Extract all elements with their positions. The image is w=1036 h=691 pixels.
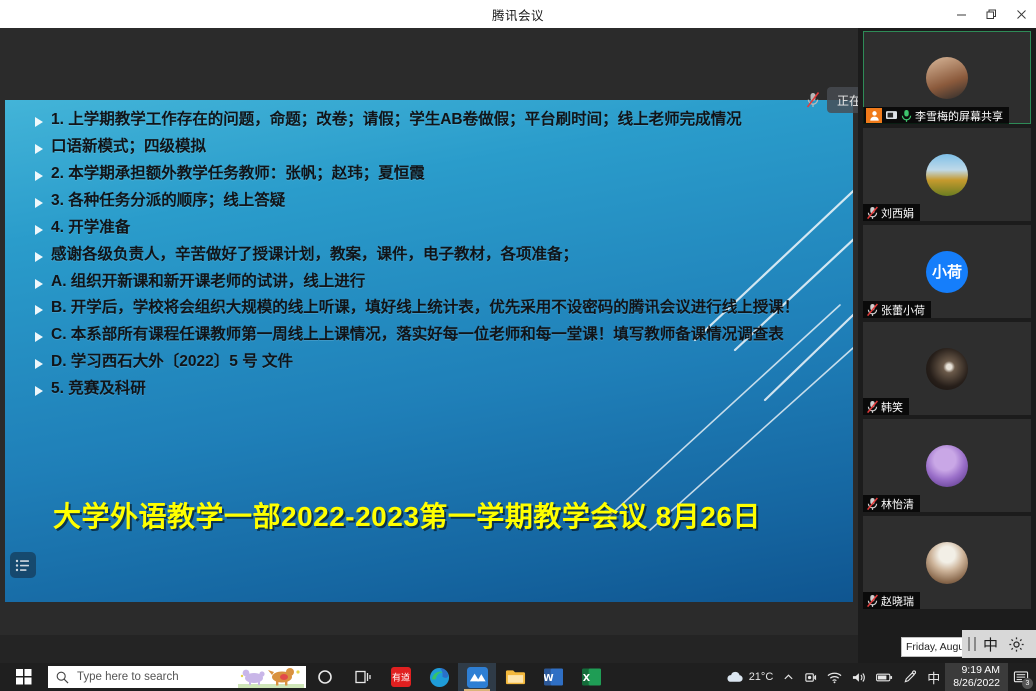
chevron-up-icon[interactable] <box>778 663 799 691</box>
search-input[interactable]: Type here to search <box>48 666 306 688</box>
triangle-bullet-icon <box>35 252 43 262</box>
list-item: 口语新模式；四级模拟 <box>27 137 839 158</box>
list-item: C. 本系部所有课程任课教师第一周线上上课情况，落实好每一位老师和每一堂课！填写… <box>27 325 839 346</box>
participant-name: 李雪梅的屏幕共享 <box>915 108 1003 124</box>
participant-tile[interactable]: 李雪梅的屏幕共享 <box>863 31 1031 124</box>
slide-title: 大学外语教学一部2022-2023第一学期教学会议 8月26日 <box>53 495 761 535</box>
speaking-label-box: 正在讲话: 李雪梅; <box>827 87 858 113</box>
wifi-icon[interactable] <box>822 663 847 691</box>
triangle-bullet-icon <box>35 225 43 235</box>
system-tray[interactable]: 21°C <box>720 663 1036 691</box>
mic-muted-icon <box>866 497 879 511</box>
notification-count-badge: 3 <box>1022 678 1033 689</box>
triangle-bullet-icon <box>35 305 43 315</box>
minimize-icon <box>956 9 967 20</box>
triangle-bullet-icon <box>35 144 43 154</box>
taskbar-clock[interactable]: 9:19 AM 8/26/2022 <box>945 663 1008 691</box>
presentation-menu-button[interactable] <box>10 552 36 578</box>
participant-tile[interactable]: 林怡清 <box>863 419 1031 512</box>
bullet-text: 感谢各级负责人，辛苦做好了授课计划，教案，课件，电子教材，各项准备； <box>51 245 578 266</box>
restore-icon <box>986 9 997 20</box>
clock-date: 8/26/2022 <box>953 677 1000 690</box>
youdao-dictionary-icon[interactable]: 有道 <box>382 663 420 691</box>
window-controls <box>946 0 1036 28</box>
mic-muted-icon <box>866 594 879 608</box>
search-icon <box>56 671 69 684</box>
triangle-bullet-icon <box>35 332 43 342</box>
mic-muted-icon <box>866 206 879 220</box>
participant-nametag: 林怡清 <box>863 495 920 512</box>
triangle-bullet-icon <box>35 386 43 396</box>
tencent-meeting-icon[interactable] <box>458 663 496 691</box>
list-item: B. 开学后，学校将会组织大规模的线上听课，填好线上统计表，优先采用不设密码的腾… <box>27 298 839 319</box>
drag-handle-icon[interactable] <box>968 637 976 651</box>
participants-rail[interactable]: 李雪梅的屏幕共享 刘西娟 小荷 <box>858 28 1036 663</box>
window-title: 腾讯会议 <box>492 5 544 24</box>
list-item: A. 组织开新课和新开课老师的试讲，线上进行 <box>27 272 839 293</box>
list-item: D. 学习西石大外〔2022〕5 号 文件 <box>27 352 839 373</box>
participant-tile[interactable]: 赵晓瑞 <box>863 516 1031 609</box>
participant-nametag: 张蕾小荷 <box>863 301 931 318</box>
search-decoration-icon <box>238 666 304 688</box>
participant-nametag: 李雪梅的屏幕共享 <box>863 107 1009 124</box>
bullet-text: A. 组织开新课和新开课老师的试讲，线上进行 <box>51 272 365 293</box>
battery-icon[interactable] <box>871 663 898 691</box>
list-item: 1. 上学期教学工作存在的问题，命题；改卷；请假；学生AB卷做假；平台刷时间；线… <box>27 110 839 131</box>
task-view-icon[interactable] <box>344 663 382 691</box>
svg-text:有道: 有道 <box>392 672 410 684</box>
maximize-button[interactable] <box>976 0 1006 28</box>
bullet-text: C. 本系部所有课程任课教师第一周线上上课情况，落实好每一位老师和每一堂课！填写… <box>51 325 784 346</box>
participant-tile[interactable]: 韩笑 <box>863 322 1031 415</box>
bullet-text: 2. 本学期承担额外教学任务教师：张帆；赵玮；夏恒霞 <box>51 164 425 185</box>
camera-icon[interactable] <box>799 663 822 691</box>
meeting-window: 1. 上学期教学工作存在的问题，命题；改卷；请假；学生AB卷做假；平台刷时间；线… <box>0 28 1036 663</box>
avatar <box>926 445 968 487</box>
list-item: 5. 竞赛及科研 <box>27 379 839 400</box>
participant-name: 张蕾小荷 <box>881 302 925 318</box>
triangle-bullet-icon <box>35 359 43 369</box>
participant-nametag: 韩笑 <box>863 398 909 415</box>
gear-icon[interactable] <box>1008 636 1025 653</box>
avatar <box>926 57 968 99</box>
triangle-bullet-icon <box>35 117 43 127</box>
speaker-icon[interactable] <box>847 663 871 691</box>
window-title-bar: 腾讯会议 <box>0 0 1036 28</box>
participant-tile[interactable]: 刘西娟 <box>863 128 1031 221</box>
participant-name: 韩笑 <box>881 399 903 415</box>
ime-indicator[interactable]: 中 <box>922 663 945 691</box>
avatar <box>926 348 968 390</box>
avatar <box>926 542 968 584</box>
mic-muted-icon <box>866 303 879 317</box>
screen-share-icon <box>884 110 898 122</box>
bullet-text: D. 学习西石大外〔2022〕5 号 文件 <box>51 352 293 373</box>
taskbar-date-tooltip: Friday, Augu <box>901 637 969 657</box>
triangle-bullet-icon <box>35 279 43 289</box>
participant-name: 林怡清 <box>881 496 914 512</box>
shared-screen-stage[interactable]: 1. 上学期教学工作存在的问题，命题；改卷；请假；学生AB卷做假；平台刷时间；线… <box>0 28 858 635</box>
bullet-text: 4. 开学准备 <box>51 218 130 239</box>
speaking-label: 正在讲话: 李雪梅; <box>837 92 858 109</box>
microsoft-excel-icon[interactable]: X <box>572 663 610 691</box>
microsoft-word-icon[interactable]: W <box>534 663 572 691</box>
bullet-text: B. 开学后，学校将会组织大规模的线上听课，填好线上统计表，优先采用不设密码的腾… <box>51 298 799 319</box>
bullet-text: 1. 上学期教学工作存在的问题，命题；改卷；请假；学生AB卷做假；平台刷时间；线… <box>51 110 742 131</box>
windows-taskbar[interactable]: Type here to search 有道 <box>0 663 1036 691</box>
file-explorer-icon[interactable] <box>496 663 534 691</box>
participant-tile[interactable]: 小荷 张蕾小荷 <box>863 225 1031 318</box>
bullet-text: 5. 竞赛及科研 <box>51 379 146 400</box>
ime-mode-button[interactable]: 中 <box>983 634 998 655</box>
avatar: 小荷 <box>926 251 968 293</box>
list-item: 感谢各级负责人，辛苦做好了授课计划，教案，课件，电子教材，各项准备； <box>27 245 839 266</box>
microsoft-edge-icon[interactable] <box>420 663 458 691</box>
host-person-icon <box>866 108 882 123</box>
active-speaker-banner: 正在讲话: 李雪梅; <box>805 87 858 113</box>
ime-floating-bar[interactable]: 中 <box>962 630 1036 658</box>
list-menu-icon <box>15 559 31 572</box>
participant-nametag: 赵晓瑞 <box>863 592 920 609</box>
participant-nametag: 刘西娟 <box>863 204 920 221</box>
close-icon <box>1016 9 1027 20</box>
cortana-icon[interactable] <box>306 663 344 691</box>
search-placeholder: Type here to search <box>77 671 179 683</box>
weather-temperature: 21°C <box>749 671 774 683</box>
notification-icon[interactable]: 3 <box>1008 663 1034 691</box>
bullet-text: 3. 各种任务分派的顺序；线上答疑 <box>51 191 285 212</box>
list-item: 3. 各种任务分派的顺序；线上答疑 <box>27 191 839 212</box>
participant-name: 刘西娟 <box>881 205 914 221</box>
list-item: 2. 本学期承担额外教学任务教师：张帆；赵玮；夏恒霞 <box>27 164 839 185</box>
participant-name: 赵晓瑞 <box>881 593 914 609</box>
close-button[interactable] <box>1006 0 1036 28</box>
svg-text:X: X <box>582 673 590 684</box>
presentation-slide: 1. 上学期教学工作存在的问题，命题；改卷；请假；学生AB卷做假；平台刷时间；线… <box>5 100 853 602</box>
windows-start-icon[interactable] <box>0 663 48 691</box>
pen-icon[interactable] <box>898 663 922 691</box>
triangle-bullet-icon <box>35 171 43 181</box>
clock-time: 9:19 AM <box>961 664 1000 677</box>
weather-widget[interactable]: 21°C <box>720 663 779 691</box>
microphone-icon <box>900 109 913 123</box>
avatar <box>926 154 968 196</box>
minimize-button[interactable] <box>946 0 976 28</box>
bullet-text: 口语新模式；四级模拟 <box>51 137 206 158</box>
list-item: 4. 开学准备 <box>27 218 839 239</box>
mic-muted-icon <box>805 91 821 109</box>
triangle-bullet-icon <box>35 198 43 208</box>
mic-muted-icon <box>866 400 879 414</box>
slide-bullet-list: 1. 上学期教学工作存在的问题，命题；改卷；请假；学生AB卷做假；平台刷时间；线… <box>27 110 839 406</box>
cloud-icon <box>725 670 744 684</box>
svg-text:W: W <box>544 673 554 684</box>
